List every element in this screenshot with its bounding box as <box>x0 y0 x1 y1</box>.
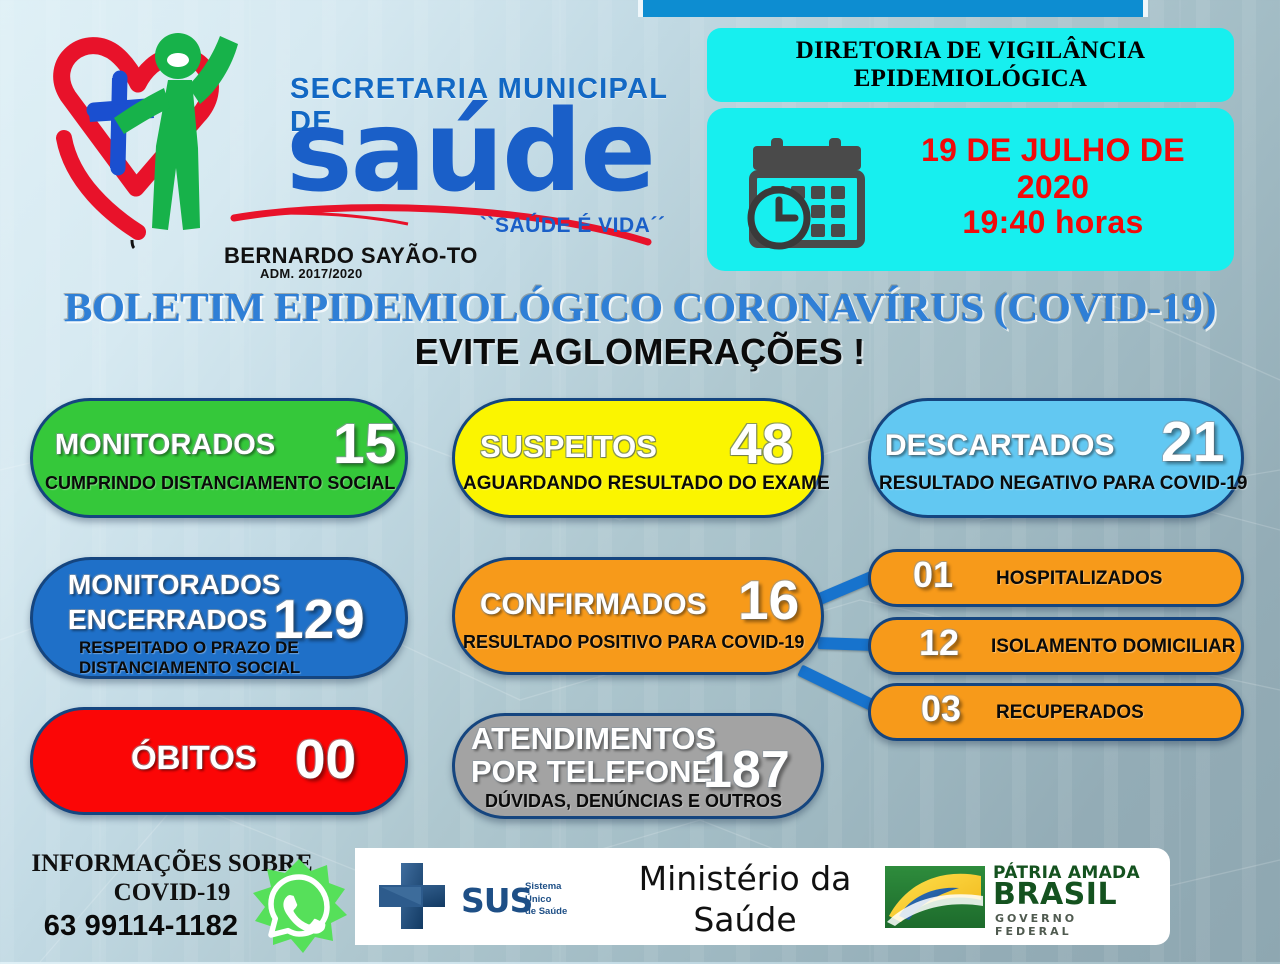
stat-label-confirmados: CONFIRMADOS <box>480 588 707 622</box>
stat-label-obitos: ÓBITOS <box>131 739 257 777</box>
bulletin-date: 19 DE JULHO DE 2020 <box>883 132 1223 206</box>
stat-label-recuperados: RECUPERADOS <box>996 702 1144 724</box>
stat-value-hospitalizados: 01 <box>913 554 953 596</box>
sus-wordmark: SUS <box>461 881 532 920</box>
stat-label-suspeitos: SUSPEITOS <box>480 429 657 465</box>
sus-subtitle-line2: Único <box>525 894 567 907</box>
page-subtitle: EVITE AGLOMERAÇÕES ! <box>0 331 1280 373</box>
panel-diretoria-vigilancia: DIRETORIA DE VIGILÂNCIA EPIDEMIOLÓGICA <box>707 28 1234 102</box>
logo-saude-text: saúde <box>286 96 654 208</box>
top-accent-bar-cap-right <box>1143 0 1148 17</box>
ministerio-line2: Saúde <box>620 899 870 940</box>
stat-card-recuperados[interactable]: 03 RECUPERADOS <box>868 683 1244 741</box>
panel-diretoria-text: DIRETORIA DE VIGILÂNCIA EPIDEMIOLÓGICA <box>707 37 1234 93</box>
brasil-line3: GOVERNO FEDERAL <box>995 912 1155 938</box>
patria-amada-brasil-logo: PÁTRIA AMADA BRASIL GOVERNO FEDERAL <box>885 862 1155 932</box>
stat-label-atendimentos-line2: POR TELEFONE <box>471 754 712 790</box>
stat-desc-monitorados-encerrados-line1: RESPEITADO O PRAZO DE <box>79 638 299 658</box>
calendar-clock-icon <box>745 130 875 252</box>
stat-label-monitorados-encerrados-line1: MONITORADOS <box>68 569 281 601</box>
sus-subtitle: Sistema Único de Saúde <box>525 881 567 919</box>
bulletin-time: 19:40 horas <box>883 204 1223 241</box>
stat-value-obitos: 00 <box>295 727 356 791</box>
stat-desc-monitorados-encerrados-line2: DISTANCIAMENTO SOCIAL <box>79 658 300 678</box>
stat-card-hospitalizados[interactable]: 01 HOSPITALIZADOS <box>868 549 1244 607</box>
ministerio-line1: Ministério da <box>620 858 870 899</box>
sus-cross-icon <box>375 861 455 931</box>
stat-desc-suspeitos: AGUARDANDO RESULTADO DO EXAME <box>463 473 830 495</box>
stat-desc-atendimentos: DÚVIDAS, DENÚNCIAS E OUTROS <box>485 791 782 812</box>
sus-logo: SUS Sistema Único de Saúde <box>375 861 590 931</box>
stat-label-descartados: DESCARTADOS <box>885 429 1114 463</box>
footer-logo-bar: SUS Sistema Único de Saúde Ministério da… <box>355 848 1170 945</box>
panel-datetime: 19 DE JULHO DE 2020 19:40 horas <box>707 108 1234 271</box>
stat-label-atendimentos-line1: ATENDIMENTOS <box>471 721 716 757</box>
stat-desc-confirmados: RESULTADO POSITIVO PARA COVID-19 <box>463 632 804 653</box>
ministerio-da-saude-logo: Ministério da Saúde <box>620 858 870 941</box>
logo-adm-text: ADM. 2017/2020 <box>260 266 362 281</box>
secretaria-logo: SECRETARIA MUNICIPAL DE saúde ``SAÚDE É … <box>28 18 708 268</box>
stat-desc-monitorados: CUMPRINDO DISTANCIAMENTO SOCIAL <box>45 473 395 494</box>
logo-slogan-text: ``SAÚDE É VIDA´´ <box>480 214 665 238</box>
stat-card-confirmados[interactable]: CONFIRMADOS 16 RESULTADO POSITIVO PARA C… <box>452 557 824 675</box>
stat-card-descartados[interactable]: DESCARTADOS 21 RESULTADO NEGATIVO PARA C… <box>868 398 1244 518</box>
stat-value-monitorados: 15 <box>333 411 396 477</box>
stat-card-suspeitos[interactable]: SUSPEITOS 48 AGUARDANDO RESULTADO DO EXA… <box>452 398 824 518</box>
stat-card-atendimentos-telefone[interactable]: ATENDIMENTOS POR TELEFONE 187 DÚVIDAS, D… <box>452 713 824 819</box>
stat-label-hospitalizados: HOSPITALIZADOS <box>996 568 1162 590</box>
footer-phone-number[interactable]: 63 99114-1182 <box>22 910 260 943</box>
top-accent-bar-cap-left <box>638 0 643 17</box>
stat-card-isolamento-domiciliar[interactable]: 12 ISOLAMENTO DOMICILIAR <box>868 617 1244 675</box>
brasil-line2: BRASIL <box>993 880 1117 910</box>
sus-subtitle-line3: de Saúde <box>525 906 567 919</box>
stat-card-monitorados-encerrados[interactable]: MONITORADOS ENCERRADOS 129 RESPEITADO O … <box>30 557 408 679</box>
stat-desc-descartados: RESULTADO NEGATIVO PARA COVID-19 <box>879 473 1247 495</box>
brasil-flag-graphic <box>885 866 985 928</box>
stat-value-descartados: 21 <box>1161 409 1224 475</box>
whatsapp-icon[interactable] <box>247 855 351 959</box>
sus-subtitle-line1: Sistema <box>525 881 567 894</box>
page-title: BOLETIM EPIDEMIOLÓGICO CORONAVÍRUS (COVI… <box>0 283 1280 331</box>
stat-label-monitorados: MONITORADOS <box>55 429 275 462</box>
stat-card-monitorados[interactable]: MONITORADOS 15 CUMPRINDO DISTANCIAMENTO … <box>30 398 408 518</box>
stat-value-recuperados: 03 <box>921 688 961 730</box>
stat-value-confirmados: 16 <box>738 568 799 632</box>
stat-card-obitos[interactable]: ÓBITOS 00 <box>30 707 408 815</box>
stat-value-isolamento-domiciliar: 12 <box>919 622 959 664</box>
stat-value-suspeitos: 48 <box>730 411 793 477</box>
stat-label-monitorados-encerrados-line2: ENCERRADOS <box>68 604 267 636</box>
stat-label-isolamento-domiciliar: ISOLAMENTO DOMICILIAR <box>991 636 1236 658</box>
top-accent-bar <box>643 0 1143 17</box>
